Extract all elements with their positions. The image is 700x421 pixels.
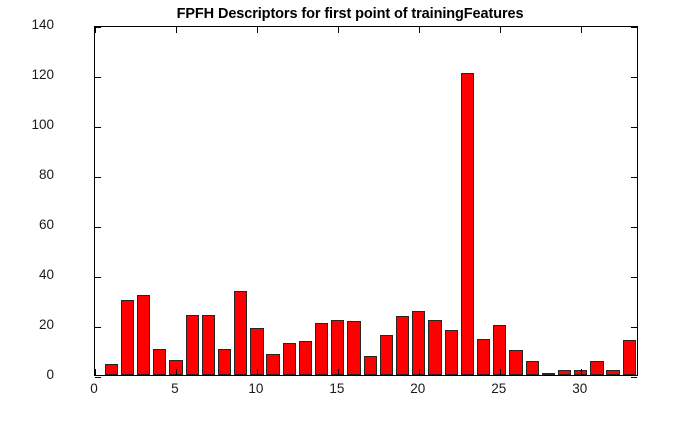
bar xyxy=(331,320,344,375)
bar xyxy=(606,370,619,375)
x-tick-mark xyxy=(500,369,501,375)
x-tick-mark xyxy=(581,369,582,375)
bar xyxy=(493,325,506,375)
page-title: FPFH Descriptors for first point of trai… xyxy=(0,6,700,22)
y-tick-mark xyxy=(631,27,637,28)
y-tick-mark xyxy=(631,327,637,328)
bar xyxy=(266,354,279,375)
x-tick-label: 30 xyxy=(550,381,610,396)
bar xyxy=(234,291,247,375)
y-tick-label: 0 xyxy=(0,367,54,382)
bar xyxy=(137,295,150,375)
bar xyxy=(202,315,215,375)
figure: FPFH Descriptors for first point of trai… xyxy=(0,0,700,421)
x-tick-label: 15 xyxy=(307,381,367,396)
x-tick-mark xyxy=(581,27,582,33)
y-tick-label: 80 xyxy=(0,167,54,182)
bar xyxy=(445,330,458,375)
bar xyxy=(509,350,522,375)
bar xyxy=(105,364,118,375)
y-tick-mark xyxy=(95,177,101,178)
y-tick-mark xyxy=(95,277,101,278)
bar xyxy=(218,349,231,375)
bar xyxy=(283,343,296,376)
y-tick-label: 40 xyxy=(0,267,54,282)
bar xyxy=(347,321,360,375)
y-tick-mark xyxy=(95,227,101,228)
bar xyxy=(558,370,571,375)
x-tick-mark xyxy=(500,27,501,33)
x-tick-label: 5 xyxy=(145,381,205,396)
bar xyxy=(428,320,441,375)
bar xyxy=(121,300,134,375)
bar xyxy=(412,311,425,375)
bar xyxy=(477,339,490,375)
y-tick-mark xyxy=(631,127,637,128)
x-tick-mark xyxy=(176,27,177,33)
y-tick-label: 20 xyxy=(0,317,54,332)
y-tick-mark xyxy=(95,327,101,328)
bar xyxy=(380,335,393,375)
y-tick-mark xyxy=(95,77,101,78)
x-tick-mark xyxy=(419,27,420,33)
y-tick-mark xyxy=(95,377,101,378)
bar xyxy=(364,356,377,375)
y-tick-mark xyxy=(631,177,637,178)
bar xyxy=(623,340,636,375)
x-tick-mark xyxy=(257,369,258,375)
y-tick-mark xyxy=(95,127,101,128)
y-tick-label: 100 xyxy=(0,117,54,132)
x-tick-mark xyxy=(95,27,96,33)
x-tick-label: 0 xyxy=(64,381,124,396)
bar xyxy=(250,328,263,376)
y-tick-label: 120 xyxy=(0,67,54,82)
bar xyxy=(299,341,312,375)
bar xyxy=(461,73,474,376)
y-tick-mark xyxy=(631,227,637,228)
plot-area xyxy=(94,26,638,376)
x-tick-label: 25 xyxy=(469,381,529,396)
y-tick-label: 140 xyxy=(0,17,54,32)
y-tick-mark xyxy=(631,77,637,78)
bar xyxy=(153,349,166,375)
bar xyxy=(186,315,199,375)
bar xyxy=(542,373,555,376)
bar xyxy=(396,316,409,375)
x-tick-label: 10 xyxy=(226,381,286,396)
x-tick-mark xyxy=(95,369,96,375)
x-tick-mark xyxy=(257,27,258,33)
y-tick-mark xyxy=(631,277,637,278)
x-tick-mark xyxy=(176,369,177,375)
x-tick-mark xyxy=(338,27,339,33)
bar-series xyxy=(95,27,637,375)
bar xyxy=(315,323,328,376)
x-tick-mark xyxy=(419,369,420,375)
y-tick-mark xyxy=(631,377,637,378)
y-tick-label: 60 xyxy=(0,217,54,232)
x-tick-mark xyxy=(338,369,339,375)
bar xyxy=(590,361,603,375)
bar xyxy=(526,361,539,375)
x-tick-label: 20 xyxy=(388,381,448,396)
